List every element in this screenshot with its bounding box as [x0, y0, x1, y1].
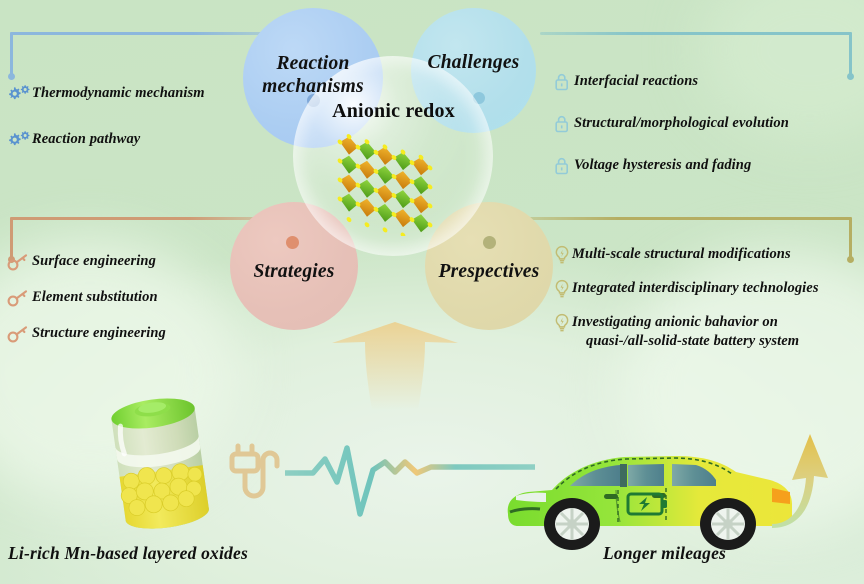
gears-icon — [6, 84, 32, 104]
growth-arrow-icon — [770, 428, 830, 528]
caption-right: Longer mileages — [603, 543, 726, 564]
list-item-label: Interfacial reactions — [574, 72, 698, 91]
list-item-label: Reaction pathway — [32, 130, 140, 149]
list-prespectives: Multi-scale structural modifications Int… — [552, 245, 864, 350]
list-item[interactable]: Surface engineering — [6, 252, 236, 272]
category-label-strategies: Strategies — [253, 260, 334, 283]
list-item[interactable]: Integrated interdisciplinary technologie… — [552, 279, 864, 299]
list-item[interactable]: Structure engineering — [6, 324, 236, 344]
list-item[interactable]: Interfacial reactions — [552, 72, 864, 92]
list-item-label: Voltage hysteresis and fading — [574, 156, 751, 175]
cylindrical-battery-cell-icon — [85, 385, 235, 540]
list-item[interactable]: Multi-scale structural modifications — [552, 245, 864, 265]
electric-car-icon — [500, 430, 800, 550]
caption-left: Li-rich Mn-based layered oxides — [8, 543, 248, 564]
category-label-prespectives: Prespectives — [439, 260, 540, 283]
list-item-label-line2: quasi-/all-solid-state battery system — [586, 332, 799, 351]
lightbulb-icon — [552, 313, 572, 333]
list-item-label: Surface engineering — [32, 252, 156, 271]
layered-oxide-crystal-structure-icon — [336, 128, 446, 236]
list-item-label: Thermodynamic mechanism — [32, 84, 205, 103]
power-plug-icon — [228, 438, 286, 510]
key-icon — [6, 324, 32, 344]
list-item[interactable]: Reaction pathway — [6, 130, 256, 150]
list-item[interactable]: Structural/morphological evolution — [552, 114, 864, 134]
key-icon — [6, 252, 32, 272]
list-item-label: Integrated interdisciplinary technologie… — [572, 279, 819, 298]
list-item-label: Element substitution — [32, 288, 158, 307]
center-label: Anionic redox — [296, 100, 491, 123]
upward-arrow-icon — [330, 300, 460, 410]
padlock-icon — [552, 156, 574, 176]
gears-icon — [6, 130, 32, 150]
category-dot-strategies — [286, 236, 299, 249]
bracket-reaction-mechanisms — [10, 32, 272, 82]
list-item-label: Structural/morphological evolution — [574, 114, 789, 133]
voltage-waveform-icon — [285, 440, 535, 520]
list-item-label-line1: Investigating anionic bahavior on — [572, 314, 778, 330]
category-dot-prespectives — [483, 236, 496, 249]
padlock-icon — [552, 114, 574, 134]
lightbulb-icon — [552, 279, 572, 299]
list-reaction-mechanisms: Thermodynamic mechanism Reaction pathway — [6, 84, 256, 150]
padlock-icon — [552, 72, 574, 92]
list-item[interactable]: Thermodynamic mechanism — [6, 84, 256, 104]
list-strategies: Surface engineering Element substitution — [6, 252, 236, 344]
list-item-label: Multi-scale structural modifications — [572, 245, 791, 264]
lightbulb-icon — [552, 245, 572, 265]
list-item-label: Structure engineering — [32, 324, 166, 343]
list-item[interactable]: Element substitution — [6, 288, 236, 308]
list-item[interactable]: Investigating anionic bahavior on quasi-… — [552, 313, 864, 350]
category-label-reaction-mechanisms: Reaction mechanisms — [243, 52, 383, 98]
key-icon — [6, 288, 32, 308]
category-label-challenges: Challenges — [428, 51, 520, 74]
figure-canvas: Reaction mechanisms Challenges Strategie… — [0, 0, 864, 584]
list-challenges: Interfacial reactions Structural/morphol… — [552, 72, 864, 176]
list-item[interactable]: Voltage hysteresis and fading — [552, 156, 864, 176]
list-item-label: Investigating anionic bahavior on quasi-… — [572, 313, 799, 350]
